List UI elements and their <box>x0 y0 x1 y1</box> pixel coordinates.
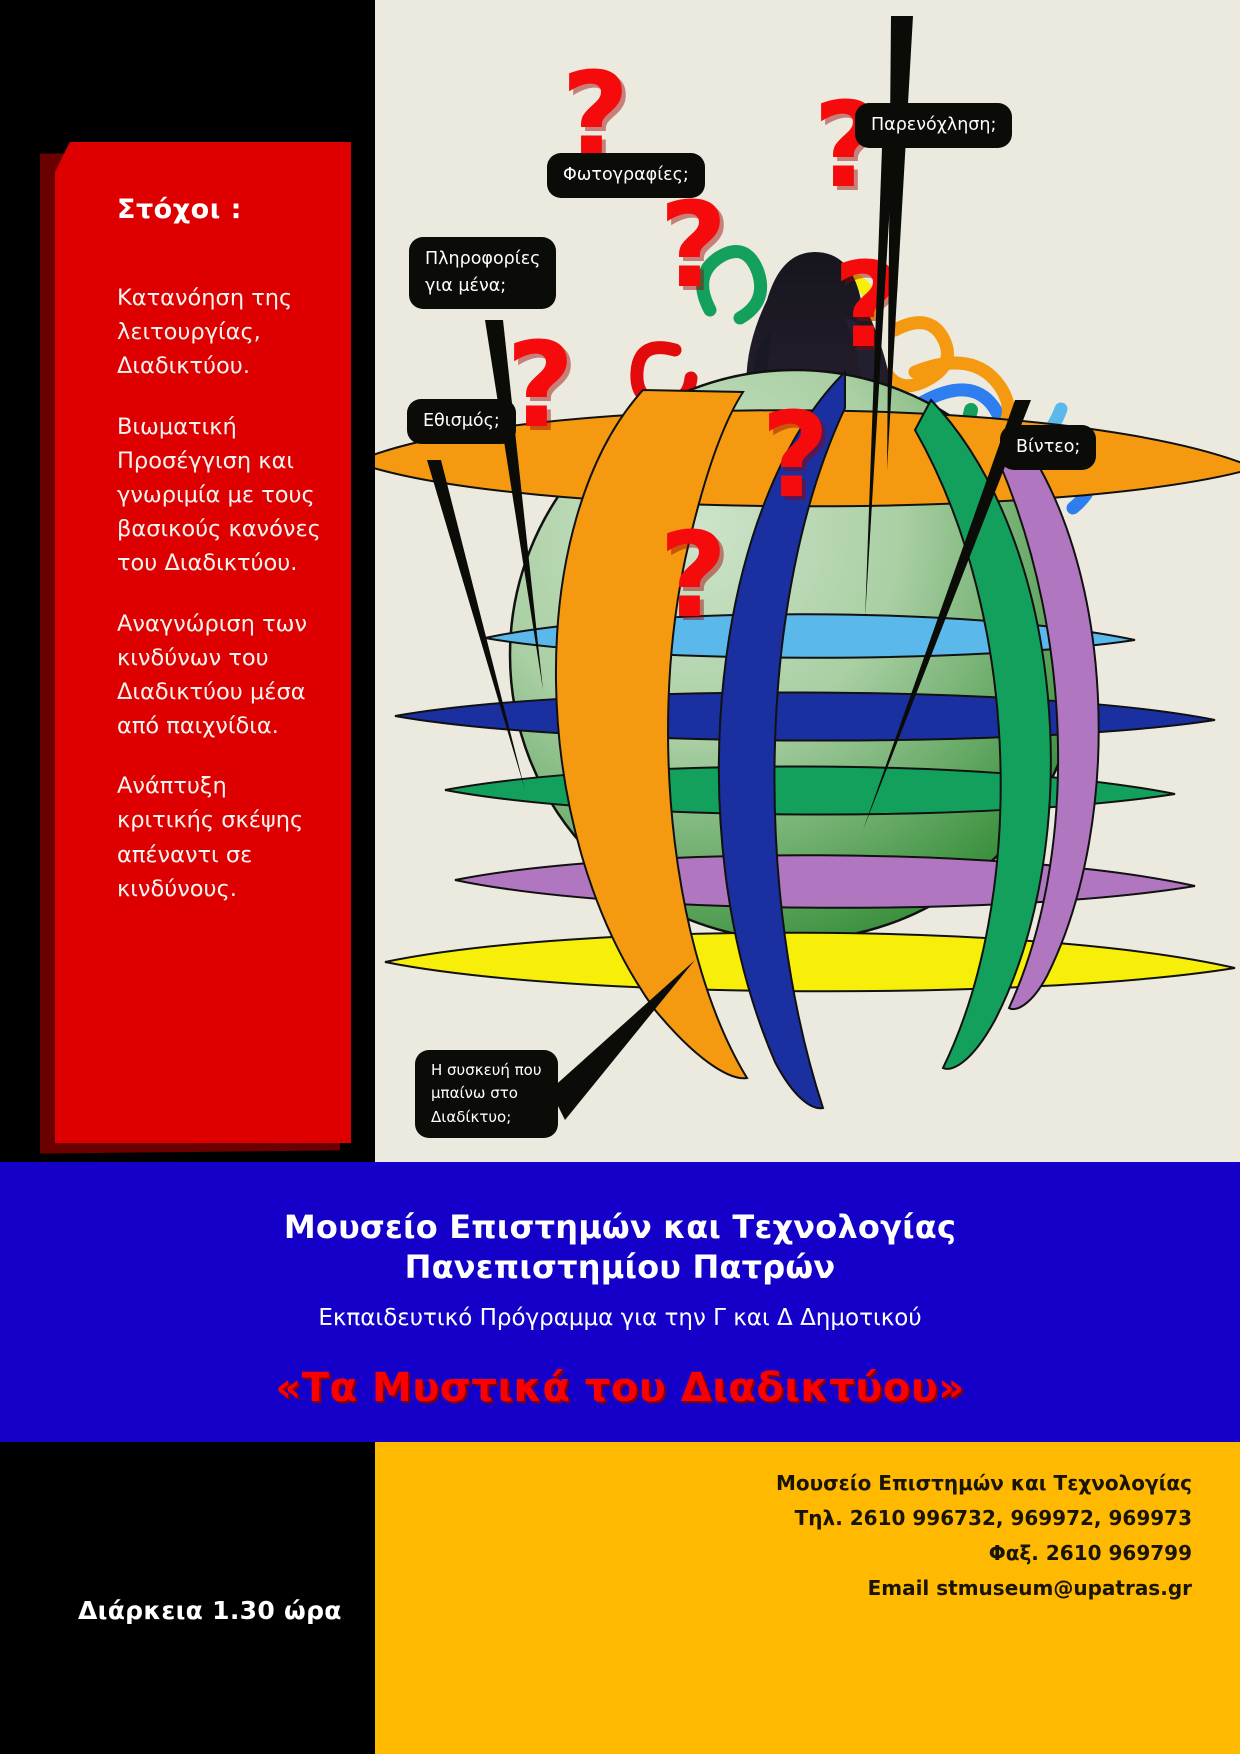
program-title: «Τα Μυστικά του Διαδικτύου» <box>0 1365 1240 1411</box>
contact-museum: Μουσείο Επιστημών και Τεχνολογίας <box>776 1466 1192 1501</box>
callout-device[interactable]: Η συσκευή που μπαίνω στο Διαδίκτυο; <box>415 1050 558 1138</box>
contact-phone: Τηλ. 2610 996732, 969972, 969973 <box>776 1501 1192 1536</box>
callout-addiction[interactable]: Εθισμός; <box>407 399 516 444</box>
callout-video[interactable]: Βίντεο; <box>1000 425 1096 470</box>
callout-harassment[interactable]: Παρενόχληση; <box>855 103 1012 148</box>
objectives-title: Στόχοι : <box>117 194 323 225</box>
tail-addiction <box>427 460 525 790</box>
illustration-panel: ? ? ? ? ? ? ? ? ? ? ? ? ? ? <box>375 0 1240 1162</box>
museum-name-line1: Μουσείο Επιστημών και Τεχνολογίας <box>0 1208 1240 1248</box>
callout-tails <box>375 0 1240 1162</box>
objective-item-3: Αναγνώριση των κινδύνων του Διαδικτύου μ… <box>117 607 323 744</box>
objectives-card: Στόχοι : Κατανόηση της λειτουργίας, Διαδ… <box>55 142 351 1143</box>
museum-name-line2: Πανεπιστημίου Πατρών <box>0 1248 1240 1288</box>
callout-info[interactable]: Πληροφορίες για μένα; <box>409 237 556 309</box>
contact-email[interactable]: Email stmuseum@upatras.gr <box>776 1571 1192 1606</box>
tail-device <box>550 960 695 1120</box>
objective-item-4: Ανάπτυξη κριτικής σκέψης απέναντι σε κιν… <box>117 769 323 906</box>
title-band: Μουσείο Επιστημών και Τεχνολογίας Πανεπι… <box>0 1162 1240 1442</box>
poster-root: ? ? ? ? ? ? ? ? ? ? ? ? ? ? <box>0 0 1240 1754</box>
contact-fax: Φαξ. 2610 969799 <box>776 1536 1192 1571</box>
tail-harassment <box>887 16 913 470</box>
tail-info <box>485 320 543 690</box>
contact-box: Μουσείο Επιστημών και Τεχνολογίας Τηλ. 2… <box>375 1442 1240 1754</box>
objective-item-1: Κατανόηση της λειτουργίας, Διαδικτύου. <box>117 281 323 384</box>
duration-label: Διάρκεια 1.30 ώρα <box>78 1596 342 1625</box>
objective-item-2: Βιωματική Προσέγγιση και γνωριμία με του… <box>117 410 323 581</box>
program-subtitle: Εκπαιδευτικό Πρόγραμμα για την Γ και Δ Δ… <box>0 1305 1240 1331</box>
callout-photos[interactable]: Φωτογραφίες; <box>547 153 705 198</box>
